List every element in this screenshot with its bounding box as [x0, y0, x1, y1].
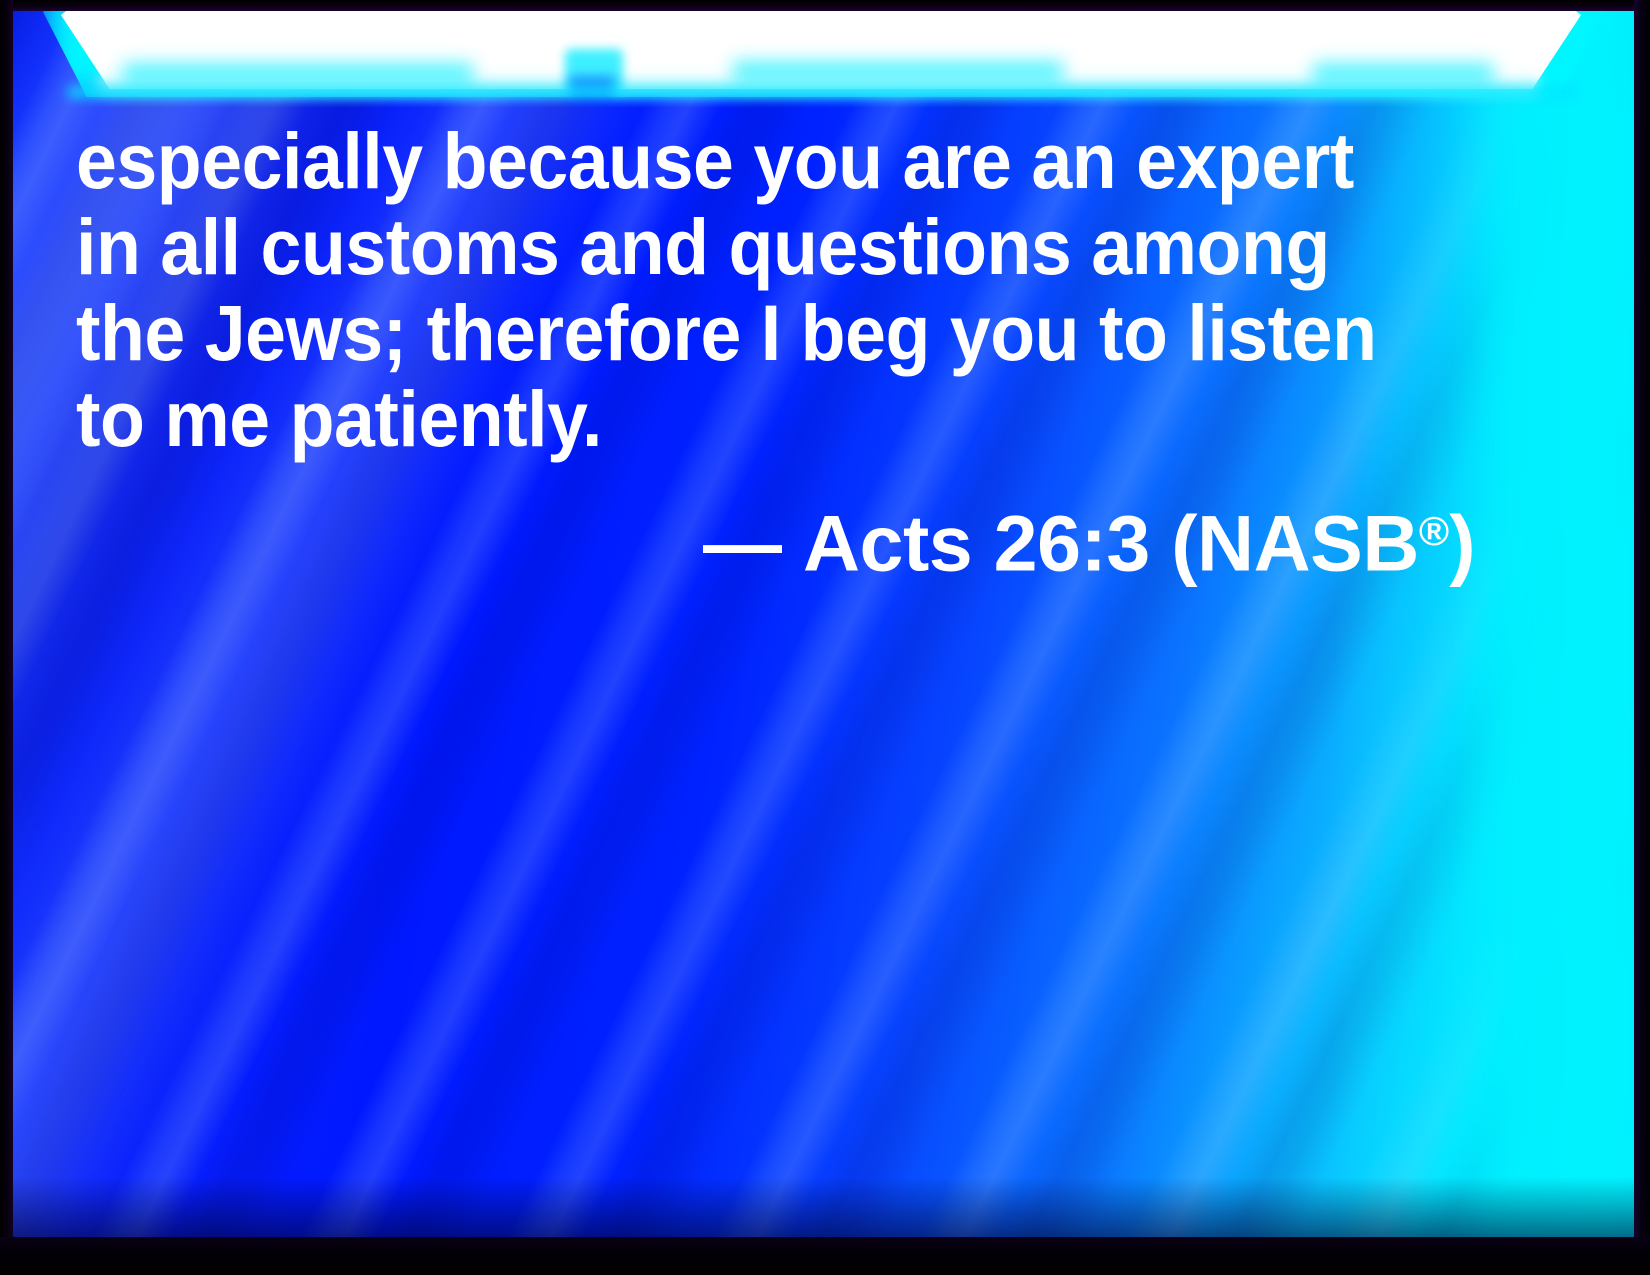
frame-right-edge: [1634, 0, 1650, 1275]
verse-block: especially because you are an expert in …: [0, 0, 1621, 586]
reference-citation: Acts 26:3: [803, 498, 1150, 587]
bottom-vignette: [13, 1177, 1634, 1237]
verse-slide: especially because you are an expert in …: [0, 0, 1650, 1275]
reference-translation: NASB: [1197, 498, 1419, 587]
reference-dash: —: [703, 498, 782, 587]
reference-paren-open: (: [1171, 498, 1197, 587]
reference-paren-close: ): [1449, 498, 1475, 587]
frame-bottom-edge: [0, 1237, 1650, 1275]
verse-text: especially because you are an expert in …: [76, 118, 1392, 462]
verse-reference: — Acts 26:3 (NASB®): [76, 488, 1491, 586]
registered-trademark-icon: ®: [1419, 508, 1449, 554]
